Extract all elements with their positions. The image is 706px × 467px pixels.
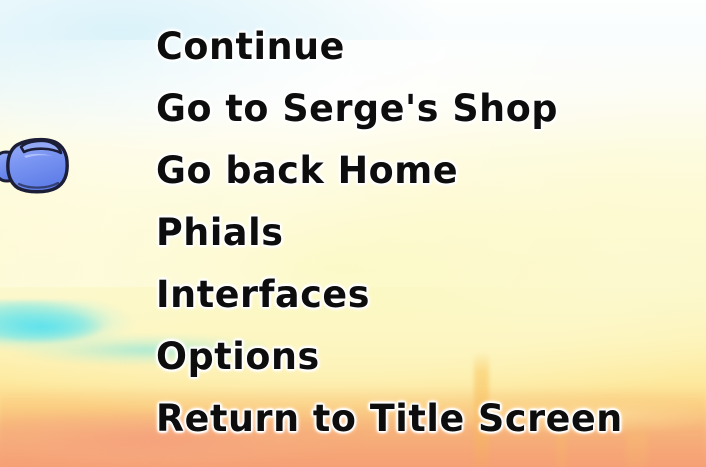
- menu-item-options[interactable]: Options: [156, 332, 322, 382]
- menu-item-label: Phials: [156, 213, 283, 253]
- menu-item-label: Go to Serge's Shop: [156, 89, 558, 129]
- menu-item-label: Interfaces: [156, 275, 370, 315]
- menu-item-interfaces[interactable]: Interfaces: [156, 270, 373, 320]
- menu-item-go-back-home[interactable]: Go back Home: [156, 146, 463, 196]
- game-menu-screen: Continue Go to Serge's Shop Go back Home…: [0, 0, 706, 467]
- menu-item-continue[interactable]: Continue: [156, 22, 348, 72]
- menu-item-label: Return to Title Screen: [156, 399, 623, 439]
- menu-item-label: Continue: [156, 27, 345, 67]
- pause-menu: Continue Go to Serge's Shop Go back Home…: [0, 0, 706, 467]
- menu-item-phials[interactable]: Phials: [156, 208, 285, 258]
- menu-item-serges-shop[interactable]: Go to Serge's Shop: [156, 84, 564, 134]
- menu-item-return-to-title[interactable]: Return to Title Screen: [156, 394, 630, 444]
- menu-item-label: Go back Home: [156, 151, 458, 191]
- menu-item-label: Options: [156, 337, 320, 377]
